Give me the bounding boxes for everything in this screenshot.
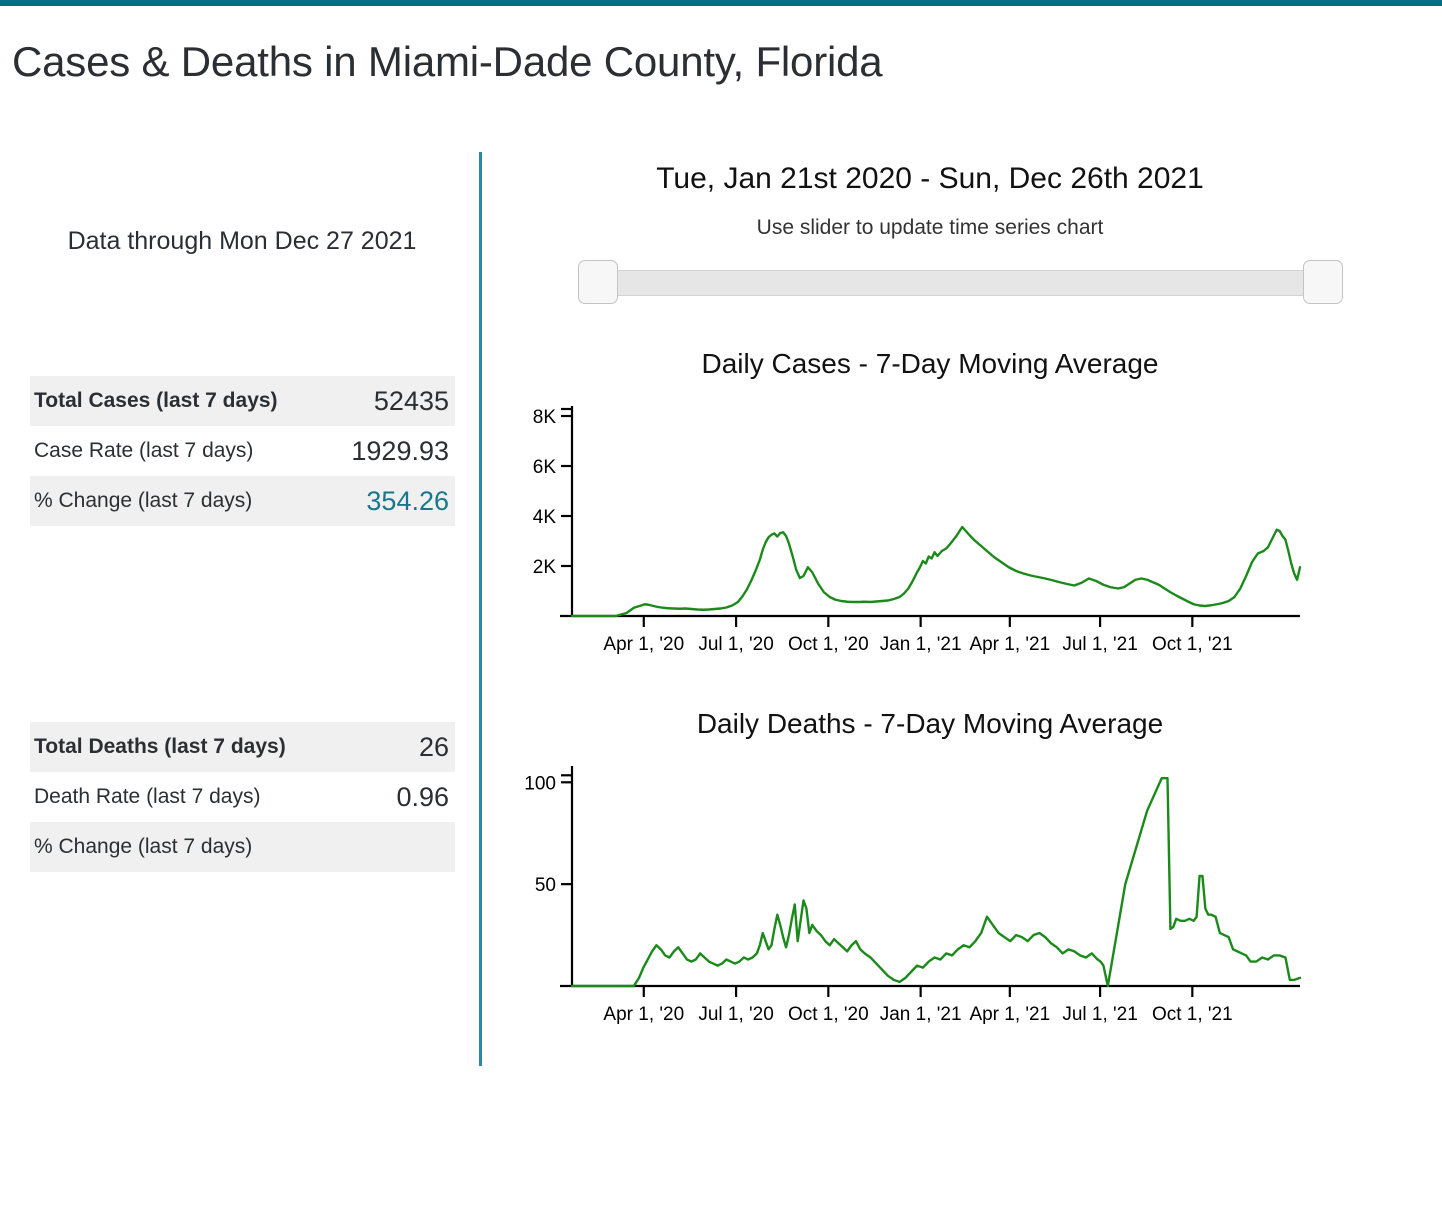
slider-track[interactable] — [600, 270, 1322, 296]
right-chart-panel: Tue, Jan 21st 2020 - Sun, Dec 26th 2021 … — [500, 152, 1430, 1072]
daily-cases-chart: Daily Cases - 7-Day Moving Average 2K4K6… — [500, 348, 1360, 678]
slider-instruction-label: Use slider to update time series chart — [500, 216, 1360, 240]
svg-text:Oct 1, '21: Oct 1, '21 — [1152, 1004, 1233, 1025]
svg-text:Apr 1, '21: Apr 1, '21 — [969, 634, 1050, 655]
daily-cases-plot: 2K4K6K8KApr 1, '20Jul 1, '20Oct 1, '20Ja… — [500, 390, 1360, 680]
chart-title: Daily Deaths - 7-Day Moving Average — [500, 708, 1360, 740]
metric-label: Case Rate (last 7 days) — [34, 439, 253, 463]
svg-text:Oct 1, '21: Oct 1, '21 — [1152, 634, 1233, 655]
metric-value: 52435 — [374, 386, 449, 417]
cases-metrics-table: Total Cases (last 7 days) 52435 Case Rat… — [30, 376, 455, 526]
svg-text:50: 50 — [535, 875, 556, 896]
svg-text:Oct 1, '20: Oct 1, '20 — [788, 1004, 869, 1025]
table-row: % Change (last 7 days) — [30, 822, 455, 872]
table-row: Total Deaths (last 7 days) 26 — [30, 722, 455, 772]
svg-text:2K: 2K — [533, 557, 557, 578]
svg-text:Apr 1, '20: Apr 1, '20 — [603, 1004, 684, 1025]
metric-label: Total Cases (last 7 days) — [34, 389, 278, 413]
page-title: Cases & Deaths in Miami-Dade County, Flo… — [12, 38, 882, 86]
metric-value: 1929.93 — [351, 436, 449, 467]
metric-label: % Change (last 7 days) — [34, 835, 252, 859]
svg-text:Apr 1, '21: Apr 1, '21 — [969, 1004, 1050, 1025]
top-accent-bar — [0, 0, 1442, 6]
data-through-label: Data through Mon Dec 27 2021 — [36, 220, 448, 262]
metric-value: 0.96 — [396, 782, 449, 813]
svg-text:8K: 8K — [533, 407, 557, 428]
svg-text:Jul 1, '20: Jul 1, '20 — [698, 634, 773, 655]
svg-text:6K: 6K — [533, 457, 557, 478]
table-row: % Change (last 7 days) 354.26 — [30, 476, 455, 526]
metric-label: Death Rate (last 7 days) — [34, 785, 260, 809]
svg-text:Jul 1, '21: Jul 1, '21 — [1062, 634, 1137, 655]
svg-text:Oct 1, '20: Oct 1, '20 — [788, 634, 869, 655]
date-range-title: Tue, Jan 21st 2020 - Sun, Dec 26th 2021 — [500, 162, 1360, 196]
svg-text:100: 100 — [524, 773, 556, 794]
slider-handle-start[interactable] — [578, 260, 618, 304]
svg-text:Jan 1, '21: Jan 1, '21 — [880, 1004, 962, 1025]
table-row: Death Rate (last 7 days) 0.96 — [30, 772, 455, 822]
svg-text:4K: 4K — [533, 507, 557, 528]
daily-deaths-chart: Daily Deaths - 7-Day Moving Average 5010… — [500, 708, 1360, 1048]
table-row: Total Cases (last 7 days) 52435 — [30, 376, 455, 426]
daily-deaths-plot: 50100Apr 1, '20Jul 1, '20Oct 1, '20Jan 1… — [500, 750, 1360, 1050]
svg-text:Apr 1, '20: Apr 1, '20 — [603, 634, 684, 655]
table-row: Case Rate (last 7 days) 1929.93 — [30, 426, 455, 476]
svg-text:Jul 1, '20: Jul 1, '20 — [698, 1004, 773, 1025]
panel-divider — [479, 152, 482, 1066]
left-summary-panel: Data through Mon Dec 27 2021 Total Cases… — [0, 152, 472, 1072]
metric-value: 26 — [419, 732, 449, 763]
svg-text:Jul 1, '21: Jul 1, '21 — [1062, 1004, 1137, 1025]
chart-title: Daily Cases - 7-Day Moving Average — [500, 348, 1360, 380]
metric-value-highlight: 354.26 — [366, 486, 449, 517]
svg-text:Jan 1, '21: Jan 1, '21 — [880, 634, 962, 655]
metric-label: Total Deaths (last 7 days) — [34, 735, 286, 759]
metric-label: % Change (last 7 days) — [34, 489, 252, 513]
date-range-slider[interactable] — [578, 260, 1343, 304]
slider-handle-end[interactable] — [1303, 260, 1343, 304]
deaths-metrics-table: Total Deaths (last 7 days) 26 Death Rate… — [30, 722, 455, 872]
